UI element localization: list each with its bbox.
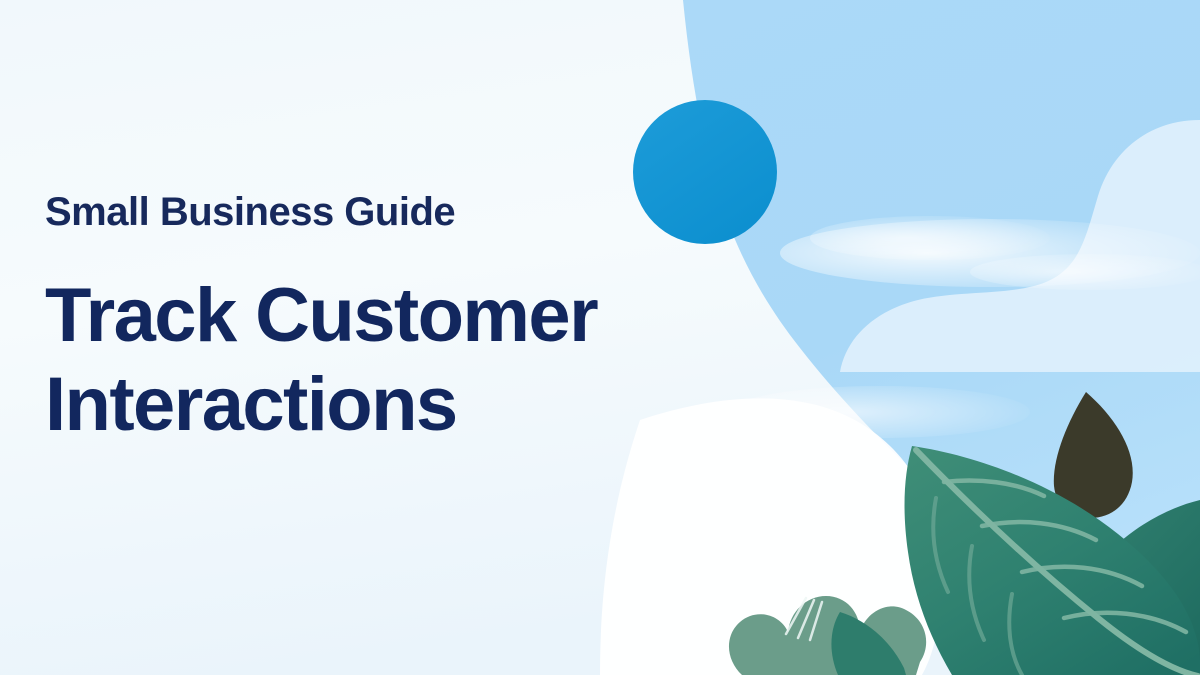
eyebrow-label: Small Business Guide [45, 190, 455, 235]
page-title: Track Customer Interactions [45, 272, 597, 450]
page-title-line-1: Track Customer [45, 272, 597, 361]
circle-accent [633, 100, 777, 244]
cloud-wisp-3 [970, 254, 1200, 290]
cloud-wisp-2 [810, 216, 1050, 260]
cloud-wisp-4 [730, 386, 1030, 438]
page-title-line-2: Interactions [45, 361, 597, 450]
banner-hero: Small Business Guide Track Customer Inte… [0, 0, 1200, 675]
